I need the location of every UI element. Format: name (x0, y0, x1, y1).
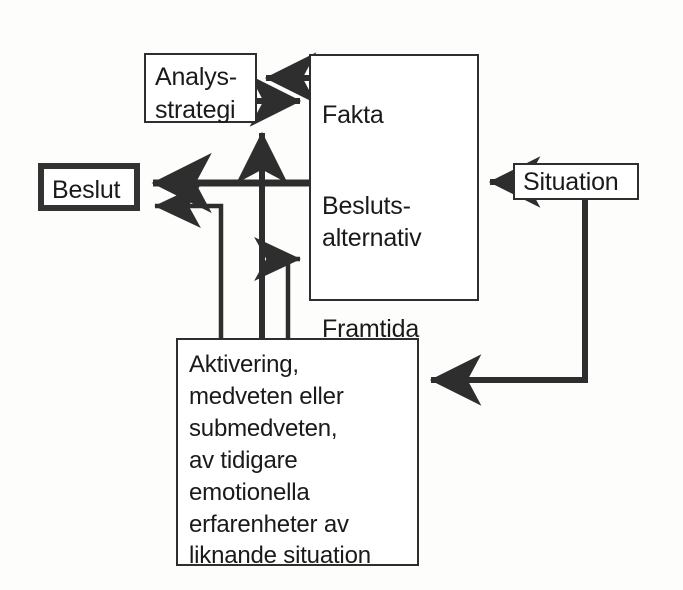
node-beslut[interactable]: Beslut (38, 163, 140, 211)
label-beslutsalternativ: Besluts- alternativ (322, 190, 477, 255)
node-situation[interactable]: Situation (513, 163, 639, 200)
node-aktivering[interactable]: Aktivering, medveten eller submedveten, … (176, 338, 419, 566)
node-analys-strategi[interactable]: Analys- strategi (144, 53, 257, 123)
node-beslut-label: Beslut (44, 169, 134, 207)
diagram-canvas: Analys- strategi Fakta Besluts- alternat… (0, 0, 683, 590)
node-decision-content[interactable]: Fakta Besluts- alternativ Framtida konse… (309, 54, 479, 301)
edge-aktivering-to-konsekvenser (288, 259, 300, 338)
node-analys-strategi-label: Analys- strategi (146, 55, 255, 126)
node-aktivering-label: Aktivering, medveten eller submedveten, … (178, 340, 417, 572)
label-fakta: Fakta (322, 99, 477, 132)
node-situation-label: Situation (515, 165, 637, 199)
edge-aktivering-to-beslut (155, 206, 221, 338)
